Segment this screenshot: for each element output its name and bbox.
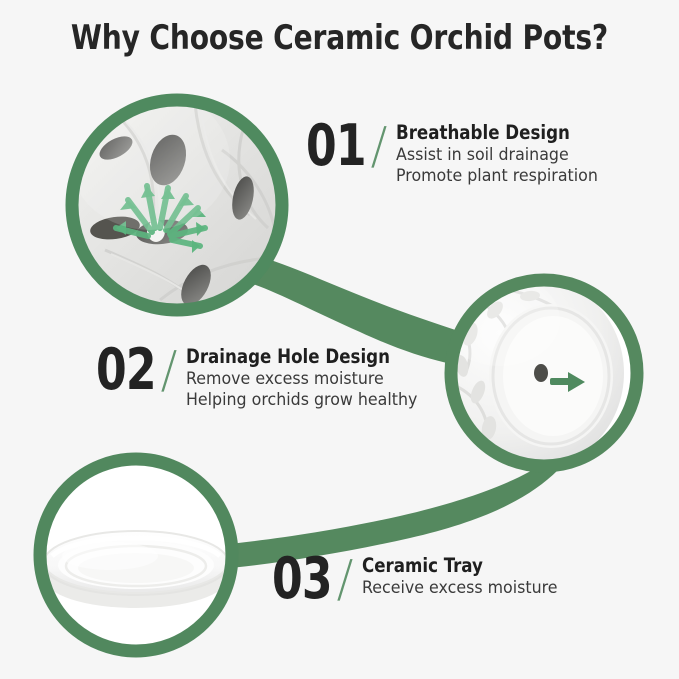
feature-heading-01: Breathable Design bbox=[396, 121, 596, 144]
feature-line-01-2: Promote plant respiration bbox=[396, 165, 598, 186]
feature-heading-02: Drainage Hole Design bbox=[186, 345, 415, 368]
circle-01-breathable-design bbox=[70, 90, 282, 312]
feature-separator-01: / bbox=[371, 118, 387, 176]
circle-03-ceramic-tray bbox=[40, 459, 232, 651]
feature-block-01: 01 / Breathable Design Assist in soil dr… bbox=[306, 118, 606, 186]
circle-02-drainage-hole-design bbox=[424, 273, 637, 473]
feature-text-02: Drainage Hole Design Remove excess moist… bbox=[186, 342, 427, 410]
feature-line-02-1: Remove excess moisture bbox=[186, 368, 417, 389]
feature-number-01: 01 bbox=[306, 118, 366, 175]
feature-text-01: Breathable Design Assist in soil drainag… bbox=[396, 118, 606, 186]
feature-number-02: 02 bbox=[96, 342, 156, 399]
feature-line-03-1: Receive excess moisture bbox=[362, 577, 558, 598]
drainage-hole bbox=[534, 364, 548, 382]
feature-separator-03: / bbox=[337, 551, 353, 609]
feature-line-01-1: Assist in soil drainage bbox=[396, 144, 598, 165]
infographic-root: Why Choose Ceramic Orchid Pots? bbox=[0, 0, 679, 679]
feature-block-03: 03 / Ceramic Tray Receive excess moistur… bbox=[272, 551, 565, 609]
feature-block-02: 02 / Drainage Hole Design Remove excess … bbox=[96, 342, 427, 410]
feature-separator-02: / bbox=[161, 342, 177, 400]
feature-number-03: 03 bbox=[272, 551, 332, 608]
feature-text-03: Ceramic Tray Receive excess moisture bbox=[362, 551, 566, 598]
feature-heading-03: Ceramic Tray bbox=[362, 554, 556, 577]
feature-line-02-2: Helping orchids grow healthy bbox=[186, 389, 417, 410]
